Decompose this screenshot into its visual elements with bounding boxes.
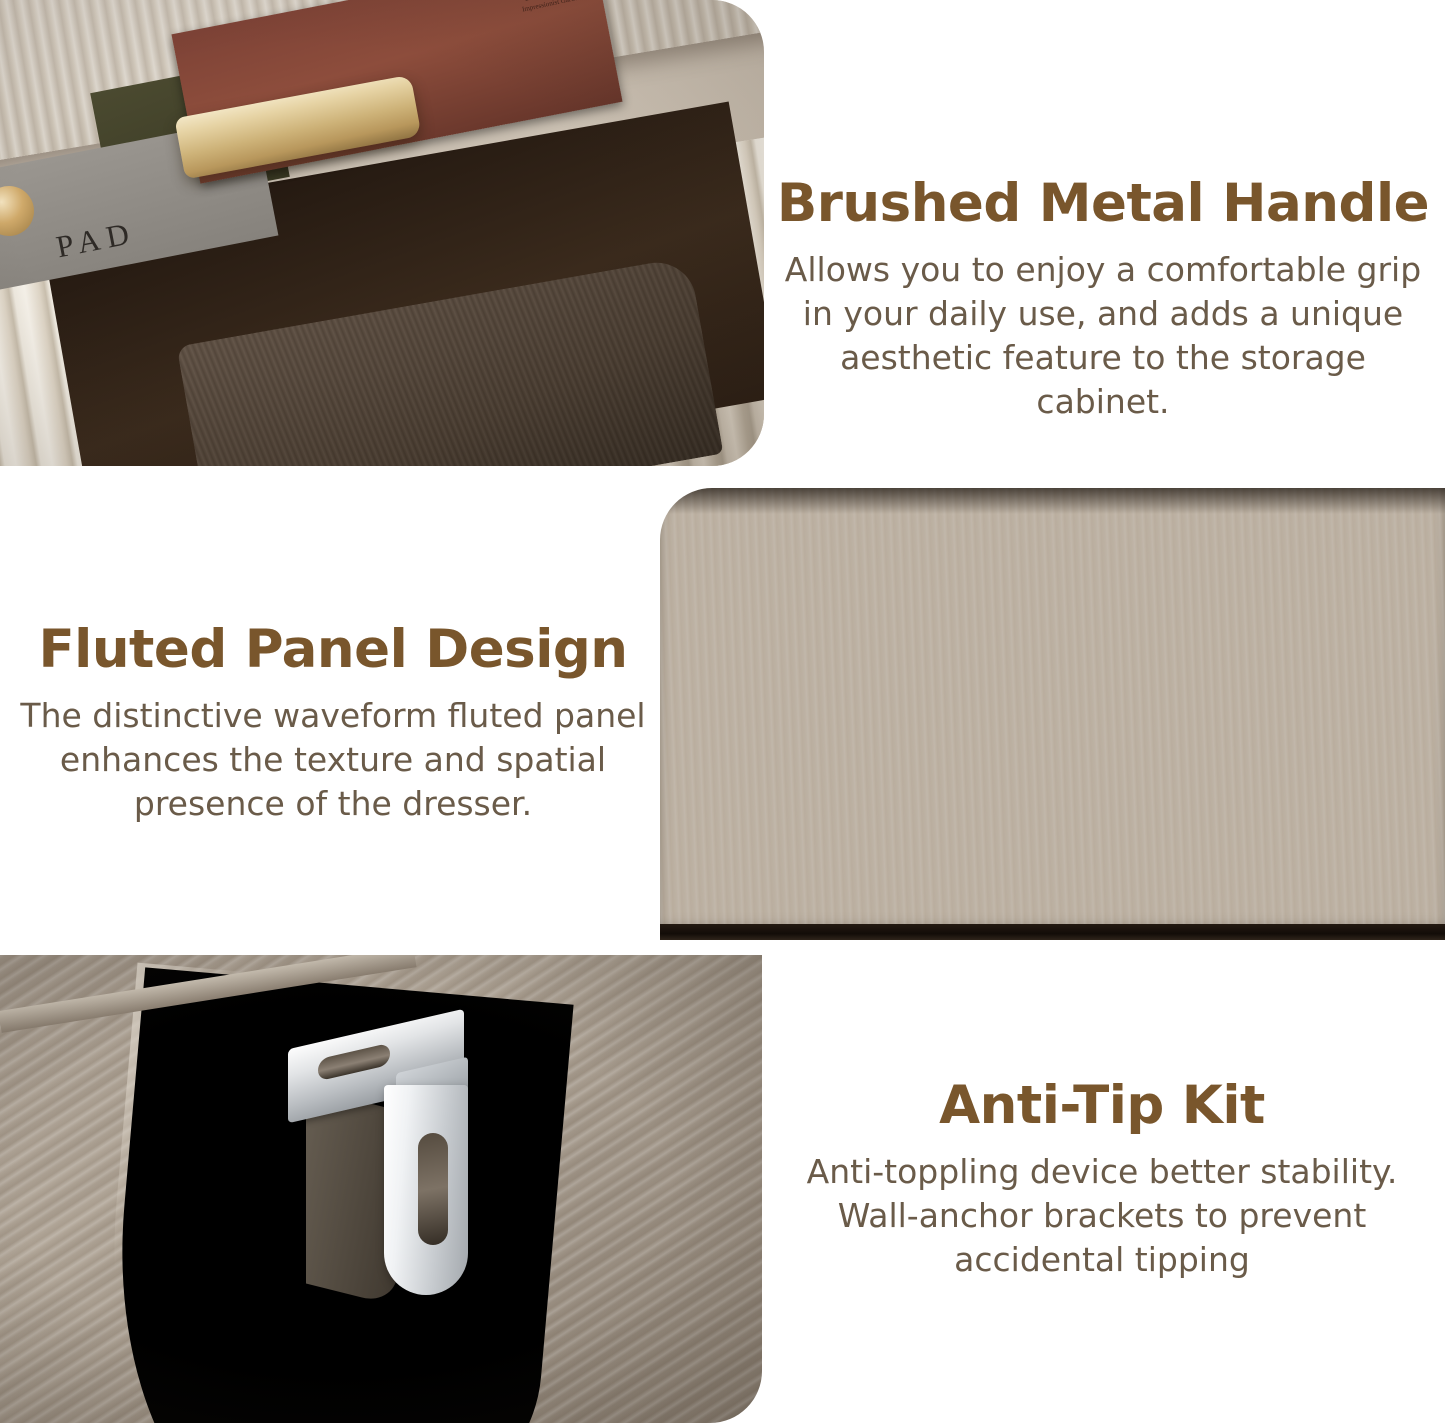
- wood-grain-overlay: [660, 488, 1445, 940]
- photo-brushed-metal-handle: PAD The Art of Impressionist Gardens Tha…: [0, 0, 764, 466]
- panel-bottom-edge: [660, 924, 1445, 940]
- bracket-vertical-slot: [418, 1133, 448, 1245]
- feature-description: Anti-toppling device better stability. W…: [768, 1150, 1436, 1282]
- anti-tip-bracket-hardware: [288, 1029, 468, 1301]
- feature-text-brushed-metal-handle: Brushed Metal Handle Allows you to enjoy…: [770, 176, 1436, 424]
- feature-title: Anti-Tip Kit: [768, 1078, 1436, 1134]
- panel-top-shadow: [660, 488, 1445, 514]
- feature-title: Fluted Panel Design: [18, 622, 648, 678]
- feature-title: Brushed Metal Handle: [770, 176, 1436, 232]
- feature-description: Allows you to enjoy a comfortable grip i…: [770, 248, 1436, 424]
- feature-text-anti-tip-kit: Anti-Tip Kit Anti-toppling device better…: [768, 1078, 1436, 1282]
- feature-description: The distinctive waveform fluted panel en…: [18, 694, 648, 826]
- feature-text-fluted-panel-design: Fluted Panel Design The distinctive wave…: [18, 622, 648, 826]
- photo-fluted-panel: [660, 488, 1445, 940]
